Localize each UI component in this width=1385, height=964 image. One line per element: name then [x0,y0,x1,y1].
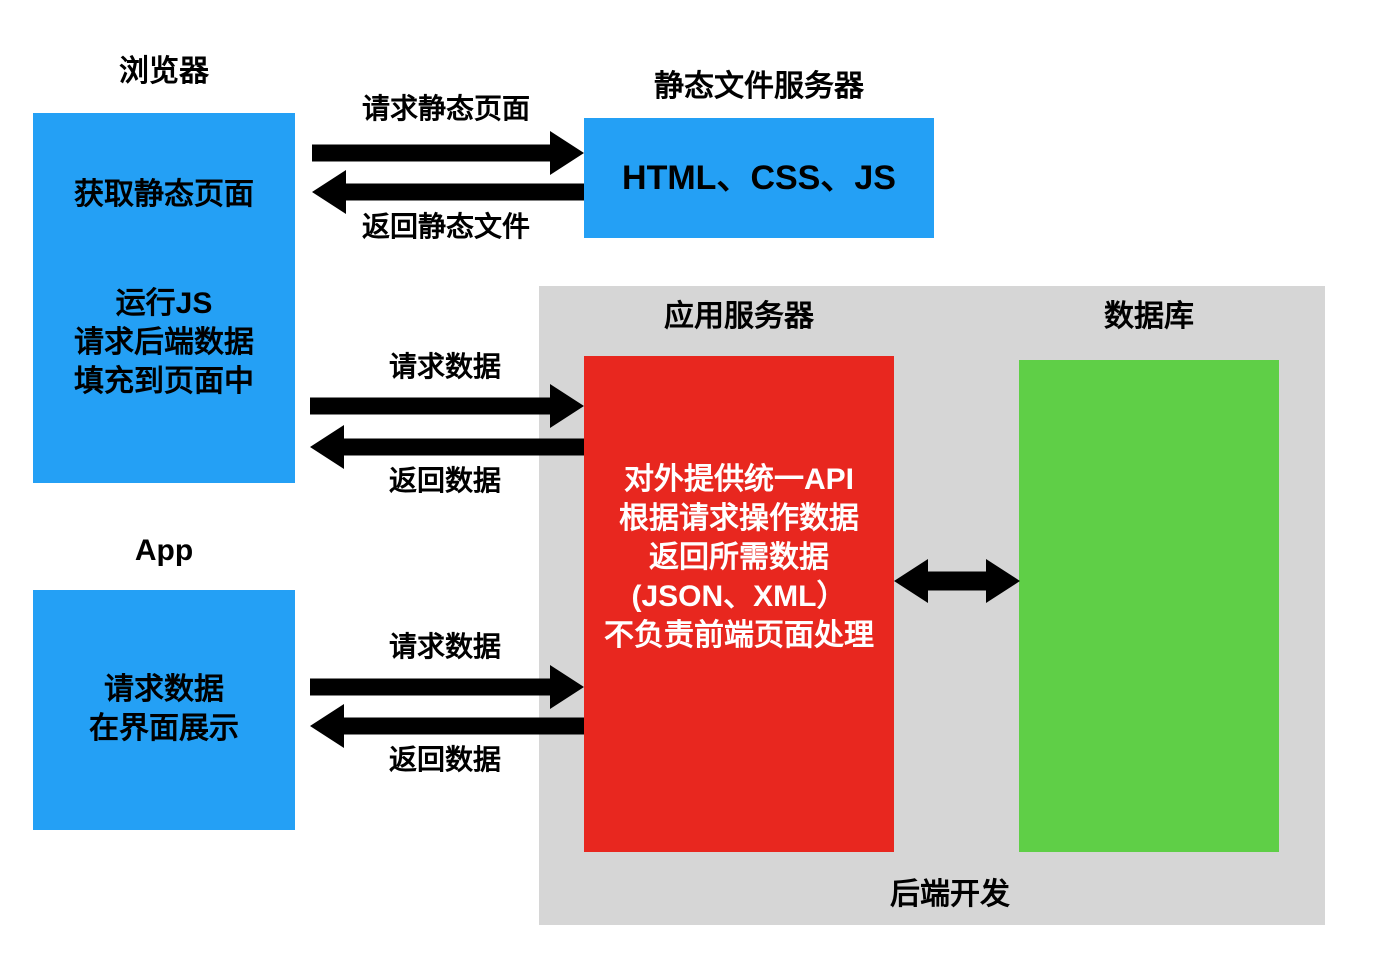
static-server-caption: 静态文件服务器 [584,70,934,105]
edge-label-request-static-page: 请求静态页面 [312,94,580,125]
browser-box[interactable]: 获取静态页面 运行JS 请求后端数据 填充到页面中 [33,113,295,483]
app-server-text-return-data: 返回所需数据 [584,538,894,577]
arrow-shaft [344,184,584,201]
app-box[interactable]: 请求数据 在界面展示 [33,590,295,830]
database-box[interactable] [1019,360,1279,852]
edge-label-return-static-file: 返回静态文件 [312,212,580,243]
arrow-shaft [342,718,584,735]
edge-label-app-request-data: 请求数据 [310,632,580,663]
browser-text-line1: 获取静态页面 [33,175,295,214]
browser-text-fill-page: 填充到页面中 [33,362,295,401]
app-server-caption: 应用服务器 [584,300,894,335]
arrow-shaft [310,679,552,696]
static-server-box[interactable]: HTML、CSS、JS [584,118,934,238]
arrow-head-left-icon [312,170,346,214]
browser-text-request-data: 请求后端数据 [33,323,295,362]
arrow-head-right-icon [986,559,1020,603]
browser-caption: 浏览器 [33,55,295,90]
app-server-text-no-frontend: 不负责前端页面处理 [584,616,894,655]
arrow-shaft [922,572,994,591]
app-server-box[interactable]: 对外提供统一API 根据请求操作数据 返回所需数据 (JSON、XML） 不负责… [584,356,894,852]
edge-label-browser-return-data: 返回数据 [310,466,580,497]
arrow-head-left-icon [894,559,928,603]
app-server-text-block: 对外提供统一API 根据请求操作数据 返回所需数据 (JSON、XML） 不负责… [584,460,894,655]
arrow-head-left-icon [310,704,344,748]
static-server-text: HTML、CSS、JS [622,156,896,200]
app-server-text-operate-data: 根据请求操作数据 [584,499,894,538]
app-text-block: 请求数据 在界面展示 [33,670,295,748]
backend-group-label: 后端开发 [890,878,1090,913]
edge-label-browser-request-data: 请求数据 [310,352,580,383]
app-text-request-data: 请求数据 [33,670,295,709]
app-caption: App [33,534,295,569]
database-caption: 数据库 [1019,300,1279,335]
arrow-head-left-icon [310,425,344,469]
app-server-text-formats: (JSON、XML） [584,577,894,616]
arrow-head-right-icon [550,384,584,428]
arrow-shaft [342,439,584,456]
diagram-canvas: 浏览器 获取静态页面 运行JS 请求后端数据 填充到页面中 静态文件服务器 HT… [0,0,1385,964]
edge-label-app-return-data: 返回数据 [310,745,580,776]
browser-text-block2: 运行JS 请求后端数据 填充到页面中 [33,284,295,401]
arrow-head-right-icon [550,665,584,709]
arrow-head-right-icon [550,131,584,175]
arrow-shaft [310,398,552,415]
app-server-text-unified-api: 对外提供统一API [584,460,894,499]
app-text-show-ui: 在界面展示 [33,709,295,748]
arrow-shaft [312,145,552,162]
browser-text-run-js: 运行JS [33,284,295,323]
